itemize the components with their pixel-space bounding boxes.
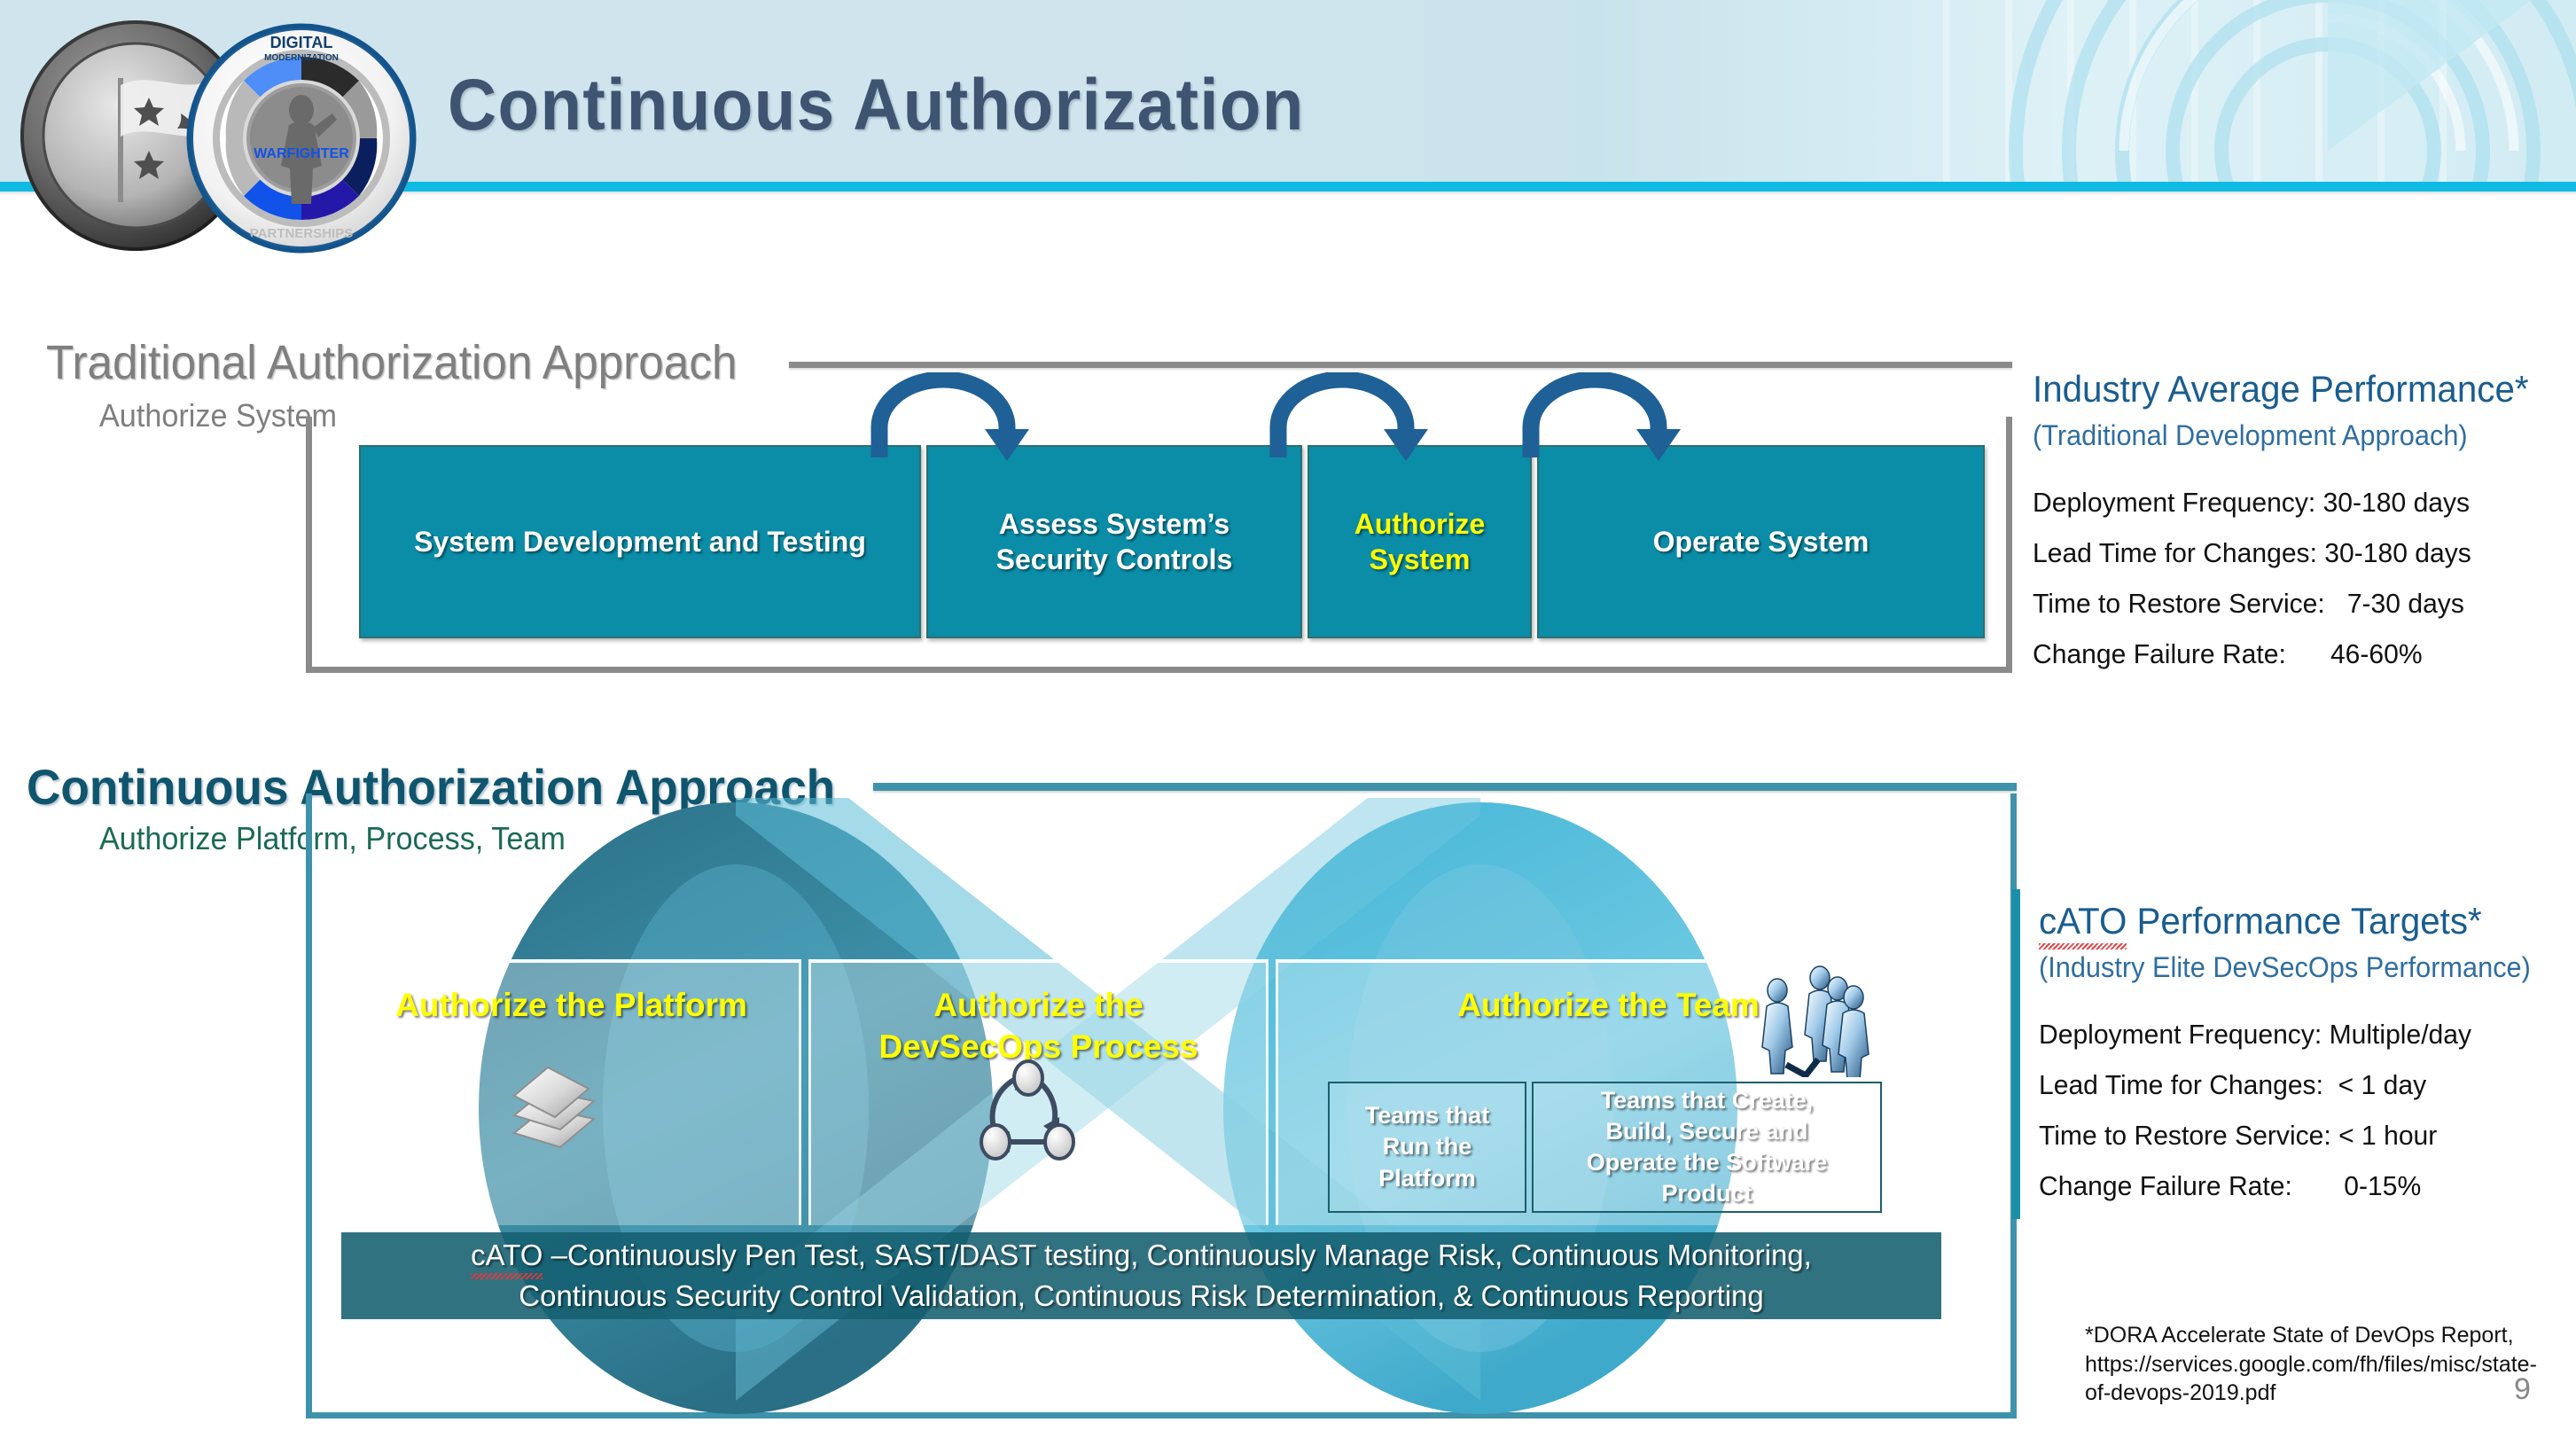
- traditional-section-rule: [789, 362, 2012, 368]
- agency-seals: WARFIGHTER DIGITAL MODERNIZATION PARTNER…: [9, 4, 425, 296]
- team-box-run-platform[interactable]: Teams thatRun thePlatform: [1328, 1082, 1526, 1213]
- source-footnote: *DORA Accelerate State of DevOps Report,…: [2085, 1321, 2555, 1408]
- industry-panel-title: Industry Average Performance*: [2033, 368, 2543, 410]
- cato-term-spellcheck: cATO: [471, 1239, 543, 1271]
- cato-metric-deployment-frequency: Deployment Frequency: Multiple/day: [2039, 1019, 2572, 1051]
- continuous-section-rule: [873, 783, 2017, 791]
- svg-text:WARFIGHTER: WARFIGHTER: [254, 146, 349, 161]
- layers-stack-icon: [496, 1055, 612, 1170]
- flow-arrow-3-icon: [1520, 372, 1689, 461]
- process-cycle-icon: [971, 1055, 1086, 1170]
- cato-title-term-spellcheck: cATO: [2039, 900, 2127, 942]
- flow-arrow-2-icon: [1268, 372, 1436, 461]
- digital-modernization-seal-icon: WARFIGHTER DIGITAL MODERNIZATION PARTNER…: [186, 5, 417, 271]
- cato-performance-panel: cATO Performance Targets* (Industry Elit…: [2039, 900, 2576, 1202]
- cato-title-rest: Performance Targets*: [2127, 900, 2481, 942]
- cato-description-bar: cATO –Continuously Pen Test, SAST/DAST t…: [341, 1232, 1941, 1319]
- flow-arrow-1-icon: [869, 372, 1037, 461]
- page-title: Continuous Authorization: [448, 64, 1305, 147]
- team-box-label: Teams thatRun thePlatform: [1365, 1100, 1490, 1193]
- stage-box-system-development[interactable]: System Development and Testing: [359, 445, 921, 638]
- cato-panel-accent-bar: [2012, 889, 2020, 1219]
- svg-text:MODERNIZATION: MODERNIZATION: [264, 53, 339, 63]
- panel-title: Authorize the Platform: [344, 984, 799, 1026]
- header-arc-decoration: [1831, 0, 2576, 182]
- industry-panel-subtitle: (Traditional Development Approach): [2033, 419, 2543, 452]
- svg-text:PARTNERSHIPS: PARTNERSHIPS: [250, 226, 353, 241]
- traditional-section-subtitle: Authorize System: [99, 397, 337, 434]
- traditional-stage-boxes: System Development and Testing Assess Sy…: [359, 445, 1981, 638]
- cato-metric-lead-time: Lead Time for Changes: < 1 day: [2039, 1069, 2572, 1101]
- cato-bar-line-1: cATO –Continuously Pen Test, SAST/DAST t…: [471, 1235, 1812, 1276]
- industry-metric-change-failure-rate: Change Failure Rate: 46-60%: [2033, 638, 2549, 670]
- team-boxes: Teams thatRun thePlatform Teams that Cre…: [1328, 1082, 1882, 1213]
- cato-metric-change-failure-rate: Change Failure Rate: 0-15%: [2039, 1170, 2572, 1202]
- stage-box-label: AuthorizeSystem: [1354, 506, 1486, 577]
- svg-text:DIGITAL: DIGITAL: [270, 34, 333, 51]
- stage-box-authorize-system[interactable]: AuthorizeSystem: [1308, 445, 1532, 638]
- cato-metric-restore-service: Time to Restore Service: < 1 hour: [2039, 1120, 2572, 1152]
- stage-box-label: Operate System: [1653, 524, 1870, 559]
- stage-box-operate-system[interactable]: Operate System: [1537, 445, 1985, 638]
- slide-root: Continuous Authorization: [0, 0, 2576, 1438]
- team-box-create-build-secure[interactable]: Teams that Create,Build, Secure andOpera…: [1532, 1082, 1882, 1213]
- stage-box-assess-controls[interactable]: Assess System’sSecurity Controls: [926, 445, 1302, 638]
- industry-metric-lead-time: Lead Time for Changes: 30-180 days: [2033, 537, 2549, 569]
- page-number: 9: [2514, 1372, 2531, 1407]
- industry-average-panel: Industry Average Performance* (Tradition…: [2033, 368, 2564, 670]
- people-group-icon: [1760, 962, 1875, 1077]
- industry-metric-restore-service: Time to Restore Service: 7-30 days: [2033, 588, 2549, 620]
- cato-bar-line-2: Continuous Security Control Validation, …: [519, 1276, 1763, 1317]
- cato-panel-title: cATO Performance Targets*: [2039, 900, 2566, 942]
- stage-box-label: Assess System’sSecurity Controls: [996, 506, 1233, 577]
- cato-bar-line-1-rest: –Continuously Pen Test, SAST/DAST testin…: [543, 1239, 1811, 1271]
- cato-panel-subtitle: (Industry Elite DevSecOps Performance): [2039, 951, 2566, 984]
- team-box-label: Teams that Create,Build, Secure andOpera…: [1587, 1085, 1828, 1209]
- traditional-section-title: Traditional Authorization Approach: [46, 335, 738, 390]
- industry-metric-deployment-frequency: Deployment Frequency: 30-180 days: [2033, 487, 2549, 519]
- stage-box-label: System Development and Testing: [414, 524, 866, 559]
